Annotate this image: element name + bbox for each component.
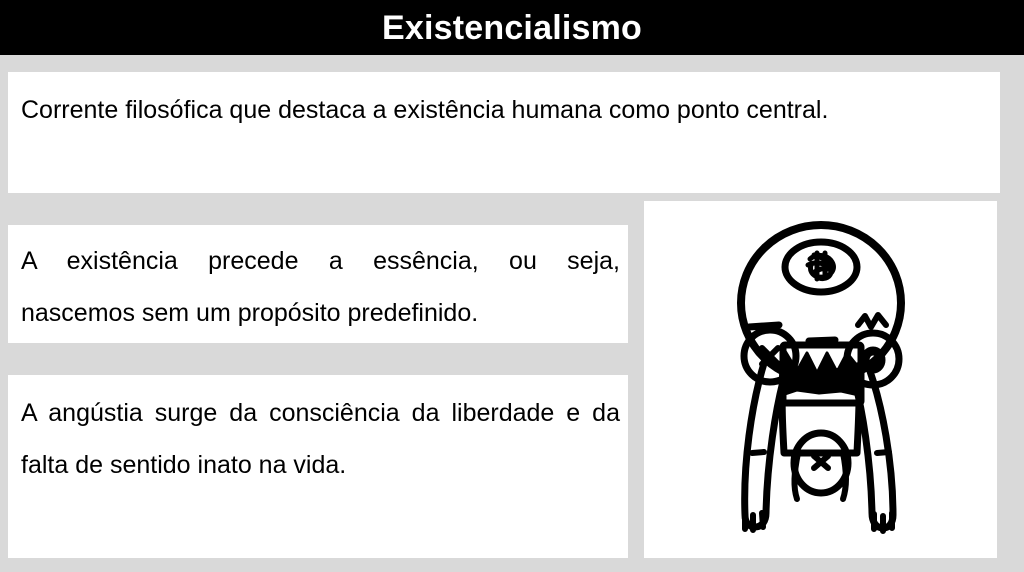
card-intro: Corrente filosófica que destaca a existê… [8, 72, 1000, 193]
card-illustration [644, 201, 997, 558]
anxious-figure-doodle [671, 215, 971, 545]
card-anguish-text: A angústia surge da consciência da liber… [21, 387, 620, 491]
title-bar: Existencialismo [0, 0, 1024, 55]
page-title: Existencialismo [382, 11, 642, 45]
card-intro-text: Corrente filosófica que destaca a existê… [21, 84, 990, 136]
card-premise-line-2: nascemos sem um propósito predefinido. [21, 287, 620, 339]
card-premise-line-1: A existência precede a essência, ou seja… [21, 235, 620, 287]
slide: Existencialismo Corrente filosófica que … [0, 0, 1024, 572]
card-anguish: A angústia surge da consciência da liber… [8, 375, 628, 558]
card-premise: A existência precede a essência, ou seja… [8, 225, 628, 343]
